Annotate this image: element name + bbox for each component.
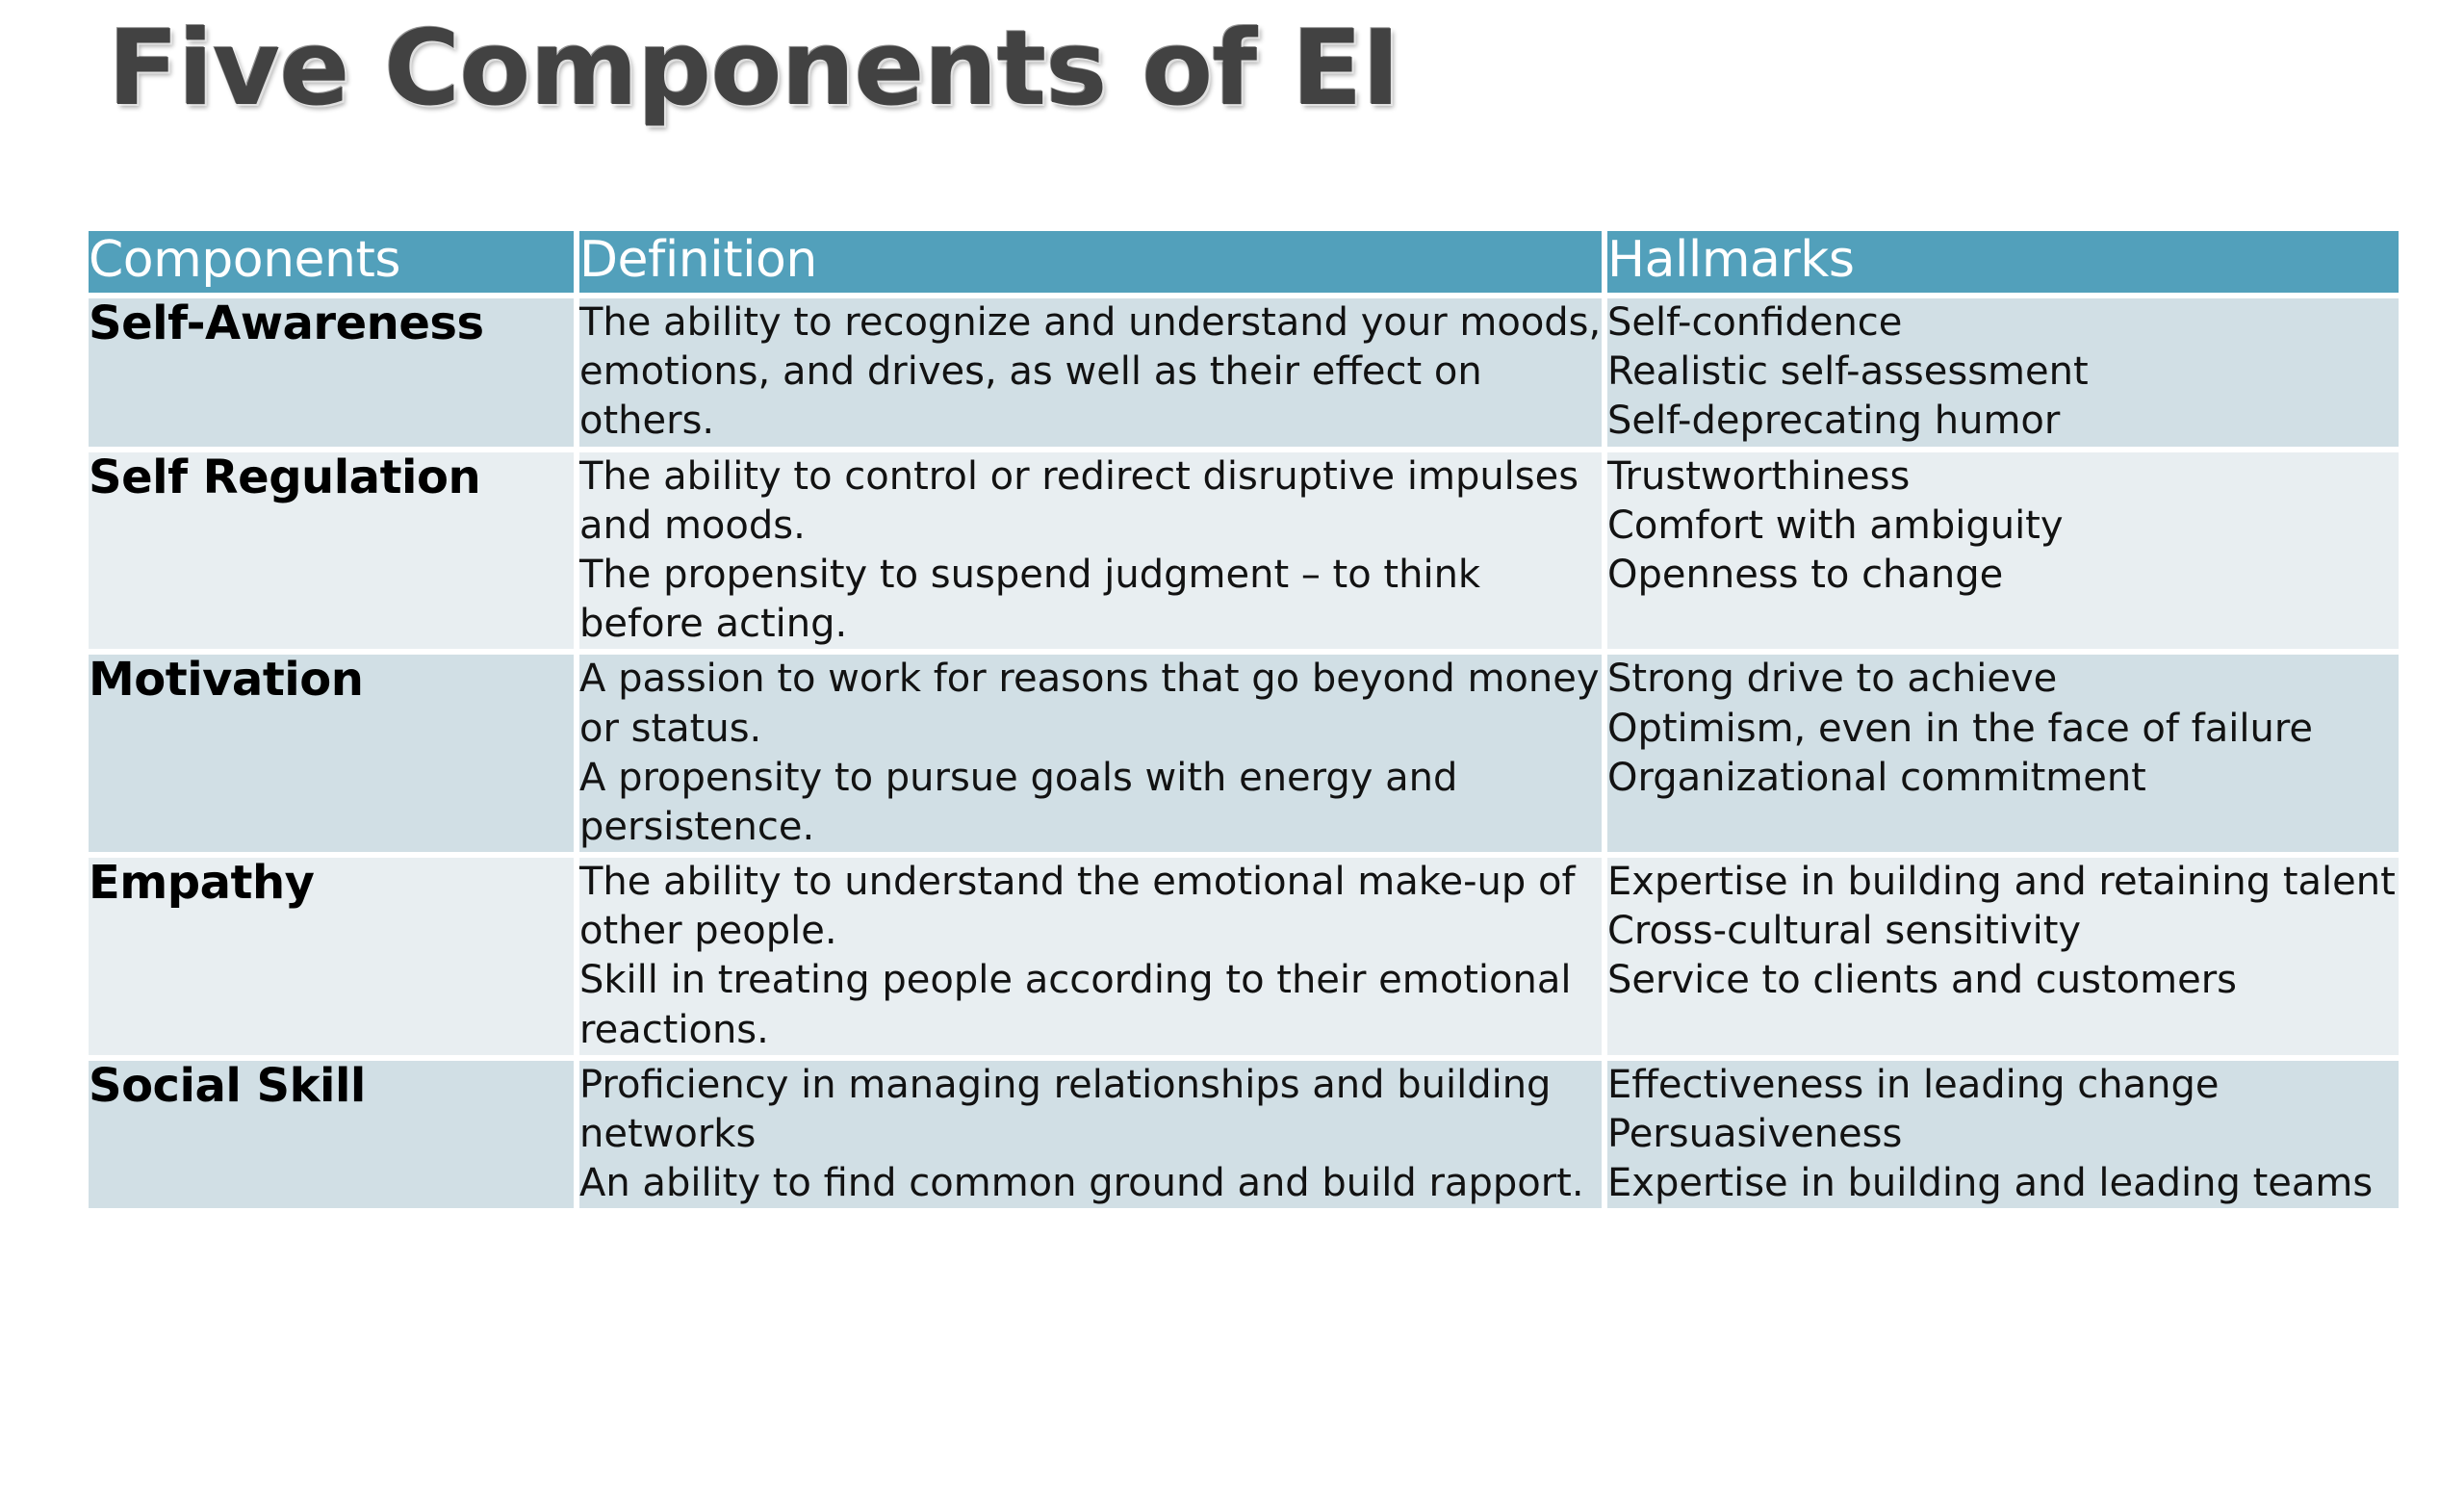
table-row: Self Regulation The ability to control o…: [89, 452, 2399, 650]
hallmark-item: Self-confidence: [1607, 298, 2399, 348]
hallmark-item: Organizational commitment: [1607, 754, 2399, 803]
table-header-row: Components Definition Hallmarks: [89, 231, 2399, 293]
cell-hallmarks: Self-confidence Realistic self-assessmen…: [1607, 298, 2399, 447]
cell-hallmarks: Expertise in building and retaining tale…: [1607, 858, 2399, 1055]
hallmark-item: Expertise in building and leading teams: [1607, 1159, 2399, 1208]
column-header-components: Components: [89, 231, 574, 293]
table-row: Social Skill Proficiency in managing rel…: [89, 1061, 2399, 1209]
column-header-definition: Definition: [579, 231, 1602, 293]
cell-component: Motivation: [89, 655, 574, 852]
definition-paragraph: The ability to control or redirect disru…: [579, 452, 1602, 551]
hallmark-item: Openness to change: [1607, 551, 2399, 600]
hallmark-item: Optimism, even in the face of failure: [1607, 705, 2399, 754]
cell-definition: The ability to recognize and understand …: [579, 298, 1602, 447]
hallmark-item: Comfort with ambiguity: [1607, 502, 2399, 551]
cell-definition: The ability to understand the emotional …: [579, 858, 1602, 1055]
hallmark-item: Effectiveness in leading change: [1607, 1061, 2399, 1110]
hallmark-item: Realistic self-assessment: [1607, 348, 2399, 397]
hallmark-item: Persuasiveness: [1607, 1110, 2399, 1159]
page-title: Five Components of EI: [108, 8, 1399, 130]
hallmark-item: Service to clients and customers: [1607, 956, 2399, 1005]
cell-component: Social Skill: [89, 1061, 574, 1209]
definition-paragraph: A passion to work for reasons that go be…: [579, 655, 1602, 753]
definition-paragraph: Skill in treating people according to th…: [579, 956, 1602, 1054]
definition-paragraph: Proficiency in managing relationships an…: [579, 1061, 1602, 1159]
cell-definition: Proficiency in managing relationships an…: [579, 1061, 1602, 1209]
definition-paragraph: An ability to find common ground and bui…: [579, 1159, 1602, 1208]
cell-hallmarks: Effectiveness in leading change Persuasi…: [1607, 1061, 2399, 1209]
hallmark-item: Trustworthiness: [1607, 452, 2399, 502]
definition-paragraph: A propensity to pursue goals with energy…: [579, 754, 1602, 852]
definition-paragraph: The ability to understand the emotional …: [579, 858, 1602, 956]
cell-component: Self-Awareness: [89, 298, 574, 447]
column-header-hallmarks: Hallmarks: [1607, 231, 2399, 293]
table-body: Self-Awareness The ability to recognize …: [89, 298, 2399, 1208]
cell-hallmarks: Trustworthiness Comfort with ambiguity O…: [1607, 452, 2399, 650]
cell-component: Self Regulation: [89, 452, 574, 650]
hallmark-item: Self-deprecating humor: [1607, 397, 2399, 446]
hallmark-item: Expertise in building and retaining tale…: [1607, 858, 2399, 907]
cell-hallmarks: Strong drive to achieve Optimism, even i…: [1607, 655, 2399, 852]
five-components-table: Components Definition Hallmarks Self-Awa…: [83, 225, 2404, 1214]
hallmark-item: Strong drive to achieve: [1607, 655, 2399, 704]
table-row: Self-Awareness The ability to recognize …: [89, 298, 2399, 447]
definition-paragraph: The ability to recognize and understand …: [579, 298, 1602, 447]
cell-component: Empathy: [89, 858, 574, 1055]
definition-paragraph: The propensity to suspend judgment – to …: [579, 551, 1602, 649]
cell-definition: A passion to work for reasons that go be…: [579, 655, 1602, 852]
cell-definition: The ability to control or redirect disru…: [579, 452, 1602, 650]
table-row: Motivation A passion to work for reasons…: [89, 655, 2399, 852]
hallmark-item: Cross-cultural sensitivity: [1607, 907, 2399, 956]
table-header: Components Definition Hallmarks: [89, 231, 2399, 293]
table-row: Empathy The ability to understand the em…: [89, 858, 2399, 1055]
